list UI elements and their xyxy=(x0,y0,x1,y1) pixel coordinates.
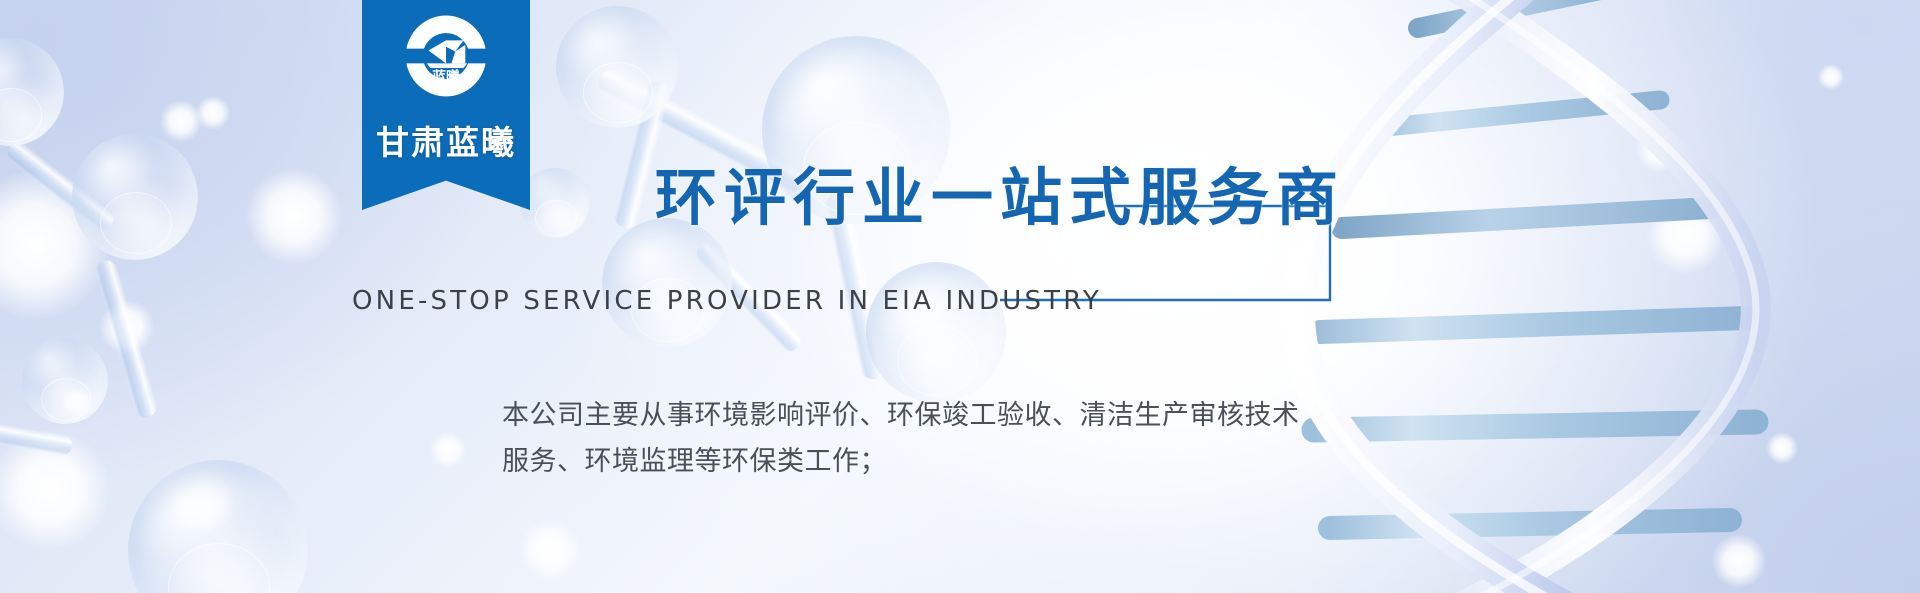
company-name: 甘肃蓝曦 xyxy=(362,116,530,164)
molecule-atom xyxy=(866,262,1006,402)
molecule-atom xyxy=(520,168,590,238)
lanxi-emblem-icon: 蓝曦 xyxy=(400,10,492,102)
dna-double-helix-graphic xyxy=(1190,0,1920,593)
headline-chinese: 环评行业一站式服务商 xyxy=(655,147,1345,237)
bokeh-dot xyxy=(1646,196,1724,274)
bokeh-dot xyxy=(246,168,342,264)
molecule-bond xyxy=(0,416,74,457)
hero-banner: 蓝曦 甘肃蓝曦 环评行业一站式服务商 ONE-STOP SERVICE PROV… xyxy=(0,0,1920,593)
description-line-2: 服务、环境监理等环保类工作； xyxy=(502,438,1300,484)
molecule-bond xyxy=(93,258,159,420)
bokeh-dot xyxy=(0,170,110,320)
molecule-atom xyxy=(0,38,64,146)
bokeh-dot xyxy=(1480,560,1520,593)
bokeh-dot xyxy=(62,388,92,418)
svg-text:蓝曦: 蓝曦 xyxy=(432,68,460,84)
bokeh-dot xyxy=(1712,534,1766,588)
bokeh-dot xyxy=(196,96,230,130)
molecule-atom xyxy=(556,6,678,128)
molecule-atom xyxy=(128,460,308,593)
molecule-atom xyxy=(602,218,732,348)
bokeh-dot xyxy=(160,100,202,142)
molecule-atom xyxy=(22,338,108,424)
bokeh-dot xyxy=(0,430,110,550)
molecule-bond xyxy=(3,138,117,234)
bokeh-dot xyxy=(170,470,234,534)
description-line-1: 本公司主要从事环境影响评价、环保竣工验收、清洁生产审核技术 xyxy=(502,392,1300,438)
molecule-atom xyxy=(72,134,198,260)
brand-ribbon: 蓝曦 甘肃蓝曦 xyxy=(362,0,530,210)
bokeh-dot xyxy=(520,520,580,580)
bokeh-dot xyxy=(1818,64,1844,90)
bokeh-dot xyxy=(1766,432,1798,464)
bokeh-dot xyxy=(100,300,154,354)
description-text: 本公司主要从事环境影响评价、环保竣工验收、清洁生产审核技术 服务、环境监理等环保… xyxy=(502,392,1300,484)
bokeh-dot xyxy=(1636,128,1680,172)
headline-english: ONE-STOP SERVICE PROVIDER IN EIA INDUSTR… xyxy=(352,286,1102,316)
bokeh-dot xyxy=(430,432,466,468)
